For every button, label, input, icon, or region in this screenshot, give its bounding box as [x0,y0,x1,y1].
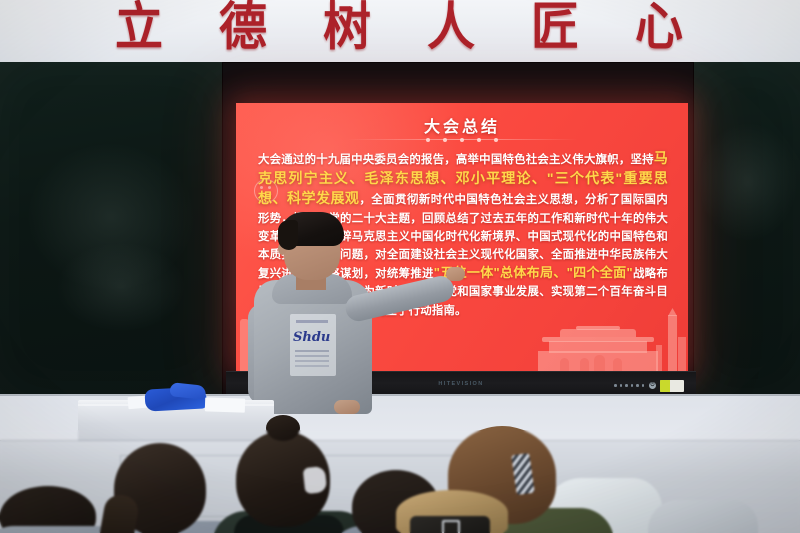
control-dot[interactable] [620,384,623,387]
chalkboard-panel-right [686,62,800,394]
student-seated-far-right [648,500,758,533]
slide-text-segment-2: 坚持 [631,154,654,166]
student-hair-bun [266,415,300,441]
presenter-pointing-hand [446,267,465,281]
gate-mid-tier [549,341,647,353]
display-control-buttons[interactable] [614,384,644,387]
title-dot [494,138,498,142]
presenter-hair-side [278,220,298,250]
slide-text-segment-1: 大会通过的十九届中央委员会的报告，高举中国特色社会主义伟大旗帜， [258,154,631,166]
print-lines [295,350,329,352]
presenter-right-arm-pointing [343,274,456,324]
print-wordmark: Shdu [293,330,330,345]
classroom-photo-scene: 立 德 树 人 匠 心 大会总结 大会通过的十九届中央委员会的 [0,0,800,533]
gate-ridge [576,326,620,330]
chalkboard-panel-left [0,62,230,394]
sticker-green-band [660,380,670,392]
gate-arch [580,358,589,371]
tower-silhouette [678,337,686,371]
control-dot[interactable] [631,384,634,387]
wall-upper-band [0,0,800,70]
power-button-icon[interactable]: ⏻ [649,382,656,389]
tiananmen-gate-silhouette [538,325,658,371]
print-line [296,320,328,323]
title-dot [477,138,481,142]
title-dot [443,138,447,142]
control-dot[interactable] [642,384,645,387]
hoodie-graphic-print: Shdu [290,314,336,376]
gate-arch [560,358,569,371]
slide-title-dots [236,138,688,142]
control-dot[interactable] [636,384,639,387]
monument-silhouette [668,315,677,371]
energy-label-sticker [660,380,684,392]
title-dot [460,138,464,142]
student-shoulders [648,500,758,533]
student-seated-center [218,415,354,533]
student-seated-left [96,443,236,533]
gate-roof-upper [560,329,636,337]
presenter-resting-hand [334,400,360,414]
gate-roof-lower [542,337,654,342]
presenter-figure: Shdu [250,212,450,412]
cap-buckle [442,520,460,533]
tower-silhouette [656,345,662,371]
podium-paper-right [205,397,245,412]
chalk-smudge [56,242,186,332]
control-dot[interactable] [614,384,617,387]
gate-arch-center [594,355,605,371]
slide-title: 大会总结 [236,113,688,137]
control-dot[interactable] [625,384,628,387]
chalk-smudge [698,122,798,242]
student-with-cap [392,490,522,533]
title-dot [426,138,430,142]
gate-arch [613,358,622,371]
